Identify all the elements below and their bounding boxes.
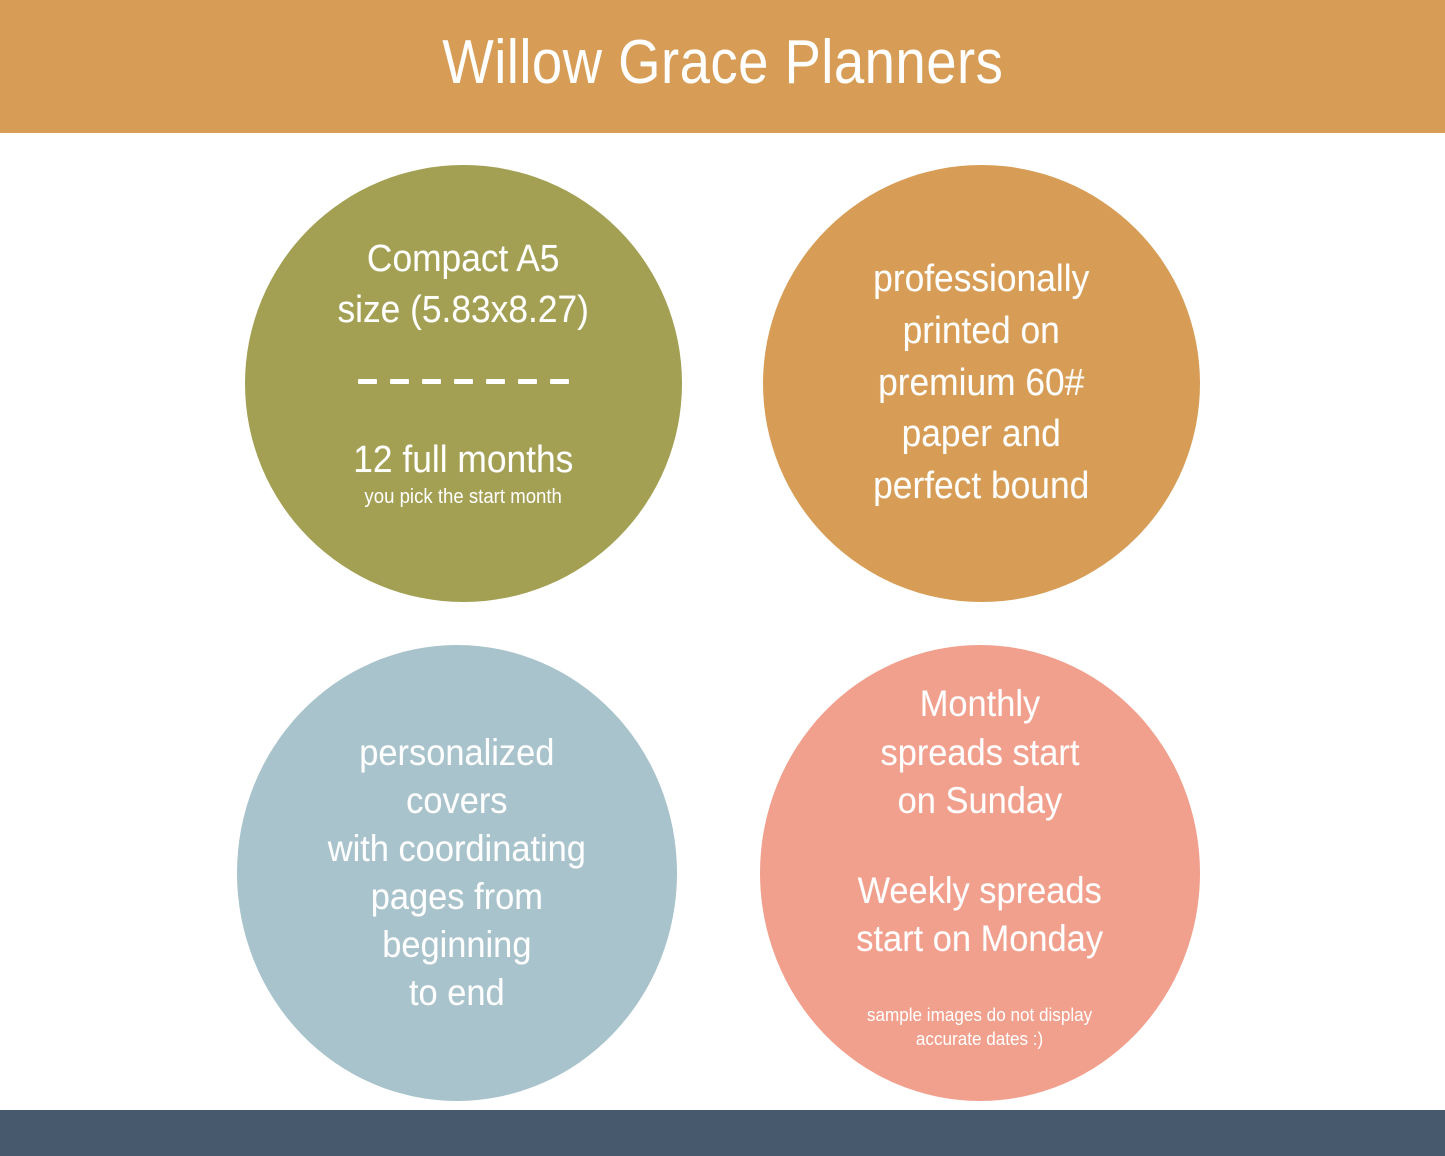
feature-size-caption: you pick the start month xyxy=(365,485,562,509)
feature-size-primary-text: Compact A5 size (5.83x8.27) xyxy=(338,234,589,334)
page-title: Willow Grace Planners xyxy=(442,32,1003,102)
footer-band xyxy=(0,1110,1445,1156)
header-band: Willow Grace Planners xyxy=(0,0,1445,133)
feature-circle-spreads: Monthly spreads start on Sunday Weekly s… xyxy=(760,645,1200,1101)
feature-spreads-weekly-text: Weekly spreads start on Monday xyxy=(840,867,1120,963)
feature-circle-size: Compact A5 size (5.83x8.27) 12 full mont… xyxy=(245,165,682,602)
feature-spreads-caption: sample images do not display accurate da… xyxy=(833,1003,1127,1052)
planner-feature-infographic: Willow Grace Planners Compact A5 size (5… xyxy=(0,0,1445,1156)
dashed-divider-icon xyxy=(358,379,569,384)
feature-circle-printing: professionally printed on premium 60# pa… xyxy=(763,165,1200,602)
feature-covers-text: personalized covers with coordinating pa… xyxy=(311,729,603,1018)
feature-circle-grid: Compact A5 size (5.83x8.27) 12 full mont… xyxy=(0,133,1445,1110)
feature-printing-text: professionally printed on premium 60# pa… xyxy=(842,254,1121,512)
feature-size-secondary-text: 12 full months xyxy=(353,440,573,482)
feature-spreads-monthly-text: Monthly spreads start on Sunday xyxy=(856,680,1103,824)
feature-circle-covers: personalized covers with coordinating pa… xyxy=(237,645,677,1101)
